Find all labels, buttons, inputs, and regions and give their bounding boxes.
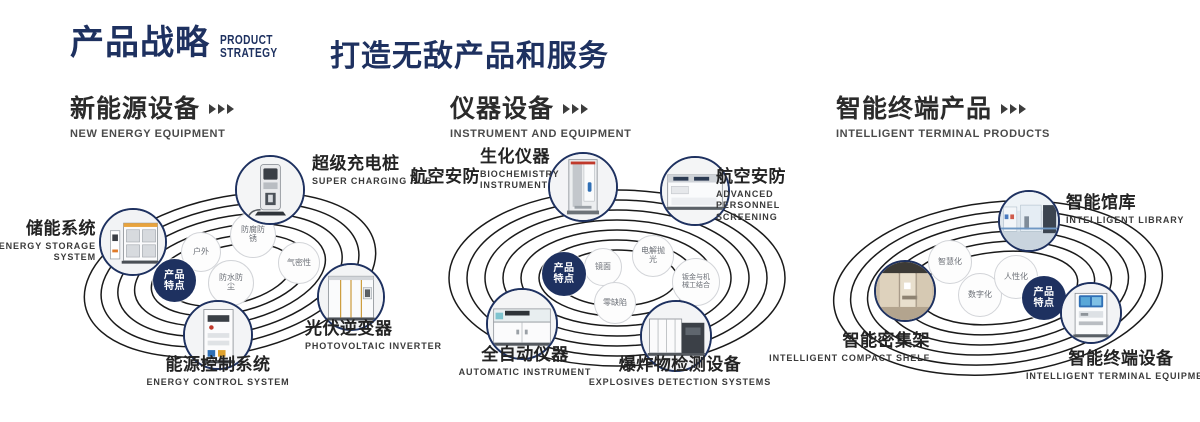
feature-label: 防水防尘 <box>218 274 244 292</box>
feature-label: 气密性 <box>284 259 314 268</box>
cluster-new-energy: 户外 防腐防锈 防水防尘 气密性 产品 特点 <box>40 160 440 400</box>
section-title-en: INTELLIGENT TERMINAL PRODUCTS <box>836 128 1050 140</box>
node-label-en: INTELLIGENT LIBRARY <box>1066 215 1200 226</box>
battery-cabinet-icon <box>101 210 165 274</box>
label-automatic-instrument: 全自动仪器 AUTOMATIC INSTRUMENT <box>425 346 625 378</box>
feature-bubble: 零缺陷 <box>594 282 636 324</box>
feature-label: 镜面 <box>595 263 611 272</box>
feature-label: 防腐防锈 <box>240 226 266 244</box>
compact-shelf-icon <box>876 262 934 320</box>
feature-label: 智慧化 <box>938 258 962 267</box>
section-title-cn: 仪器设备 <box>450 96 554 121</box>
node-energy-storage[interactable] <box>99 208 167 276</box>
chevron-right-icon <box>563 104 588 114</box>
section-heading-new-energy: 新能源设备 NEW ENERGY EQUIPMENT <box>70 96 234 140</box>
core-line1: 产品 <box>164 270 185 281</box>
feature-bubble: 镜面 <box>584 248 622 286</box>
page-title: 产品战略 PRODUCT STRATEGY <box>70 26 294 60</box>
label-intelligent-library: 智能馆库 INTELLIGENT LIBRARY <box>1066 194 1200 226</box>
poster-canvas: 产品战略 PRODUCT STRATEGY 打造无敌产品和服务 新能源设备 NE… <box>0 0 1200 422</box>
core-line2: 特点 <box>164 281 185 292</box>
node-label-en: ENERGY STORAGE SYSTEM <box>0 241 96 264</box>
core-line1: 产品 <box>554 263 575 274</box>
core-badge-text: 产品 特点 <box>554 263 575 285</box>
feature-label: 户外 <box>193 248 209 257</box>
section-title-cn: 智能终端产品 <box>836 96 992 121</box>
page-title-en: PRODUCT STRATEGY <box>220 33 278 59</box>
node-label-en: INTELLIGENT TERMINAL EQUIPMENT <box>1026 371 1200 382</box>
node-label-cn: 能源控制系统 <box>118 356 318 375</box>
core-line1: 产品 <box>1034 287 1055 298</box>
node-super-charging-hub[interactable] <box>235 155 305 225</box>
label-energy-control-system: 能源控制系统 ENERGY CONTROL SYSTEM <box>118 356 318 388</box>
node-label-en: EXPLOSIVES DETECTION SYSTEMS <box>575 377 785 388</box>
kiosk-terminal-icon <box>1062 284 1120 342</box>
page-title-en-line2: STRATEGY <box>220 46 278 59</box>
feature-label: 电解抛光 <box>641 247 665 265</box>
feature-bubble: 电解抛光 <box>632 235 674 277</box>
feature-bubble: 气密性 <box>278 242 320 284</box>
node-label-cn: 储能系统 <box>0 220 96 239</box>
core-badge-text: 产品 特点 <box>164 270 185 292</box>
feature-bubble: 钣金与机械工结合 <box>672 258 720 306</box>
core-line2: 特点 <box>554 274 575 285</box>
section-heading-intelligent-terminal: 智能终端产品 INTELLIGENT TERMINAL PRODUCTS <box>836 96 1050 140</box>
library-room-icon <box>1000 192 1058 250</box>
page-title-cn: 产品战略 <box>70 26 210 60</box>
section-title-en: INSTRUMENT AND EQUIPMENT <box>450 128 631 140</box>
node-label-cn: 智能馆库 <box>1066 194 1200 213</box>
charging-pile-icon <box>237 157 303 223</box>
chevron-right-icon <box>1001 104 1026 114</box>
node-label-en: INTELLIGENT COMPACT SHELF <box>750 353 930 364</box>
core-line2: 特点 <box>1034 298 1055 309</box>
cluster-intelligent-terminal: 智慧化 数字化 人性化 产品 特点 <box>810 160 1200 410</box>
section-title-en: NEW ENERGY EQUIPMENT <box>70 128 234 140</box>
node-label-cn: 生化仪器 <box>480 148 600 167</box>
node-intelligent-compact-shelf[interactable] <box>874 260 936 322</box>
node-label-cn: 全自动仪器 <box>425 346 625 365</box>
feature-label: 人性化 <box>1004 273 1028 282</box>
core-badge-text: 产品 特点 <box>1034 287 1055 309</box>
label-intelligent-compact-shelf: 智能密集架 INTELLIGENT COMPACT SHELF <box>750 332 930 364</box>
node-label-en: ENERGY CONTROL SYSTEM <box>118 377 318 388</box>
feature-label: 数字化 <box>968 291 992 300</box>
node-intelligent-terminal-equipment[interactable] <box>1060 282 1122 344</box>
feature-label: 钣金与机械工结合 <box>680 274 712 290</box>
label-energy-storage: 储能系统 ENERGY STORAGE SYSTEM <box>0 220 96 264</box>
section-heading-instrument: 仪器设备 INSTRUMENT AND EQUIPMENT <box>450 96 631 140</box>
node-label-en: AUTOMATIC INSTRUMENT <box>425 367 625 378</box>
label-intelligent-terminal-equipment: 智能终端设备 INTELLIGENT TERMINAL EQUIPMENT <box>1026 350 1200 382</box>
node-label-en: BIOCHEMISTRY INSTRUMENT <box>480 169 590 192</box>
page-subtitle: 打造无敌产品和服务 <box>330 31 609 75</box>
chevron-right-icon <box>209 104 234 114</box>
label-biochemistry-instrument: 生化仪器 BIOCHEMISTRY INSTRUMENT <box>480 148 600 192</box>
node-label-cn: 智能终端设备 <box>1026 350 1200 369</box>
section-title-cn: 新能源设备 <box>70 96 200 121</box>
feature-label: 零缺陷 <box>601 299 629 308</box>
node-intelligent-library[interactable] <box>998 190 1060 252</box>
node-label-cn: 智能密集架 <box>750 332 930 351</box>
